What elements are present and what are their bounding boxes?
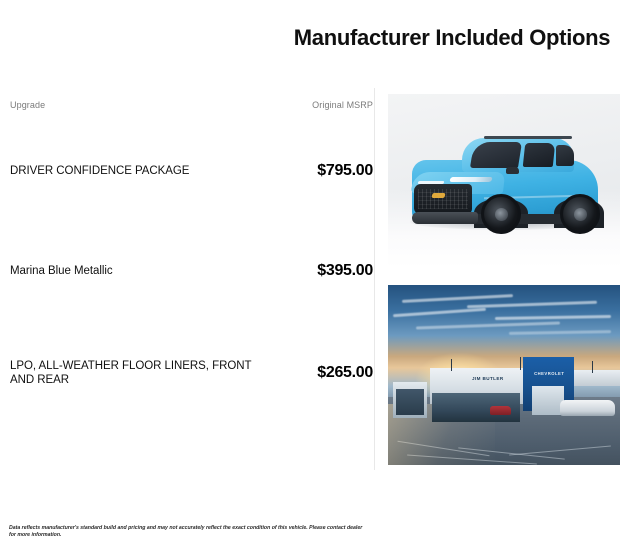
light-pole (451, 359, 452, 372)
options-table: Upgrade Original MSRP DRIVER CONFIDENCE … (0, 88, 376, 480)
chevrolet-bowtie-icon (431, 193, 445, 198)
rear-door-glass (556, 145, 574, 166)
light-pole (520, 357, 521, 370)
daytime-running-light (418, 181, 445, 184)
media-column: JIM BUTLER CHEVROLET (388, 0, 620, 480)
vehicle-photo[interactable] (388, 94, 620, 268)
table-row: DRIVER CONFIDENCE PACKAGE $795.00 (0, 148, 376, 194)
side-mirror (506, 167, 519, 174)
dealership-name-sign: JIM BUTLER (458, 374, 518, 383)
grille-mesh (418, 189, 468, 209)
cloud-streak (416, 322, 560, 330)
option-price: $795.00 (317, 162, 373, 180)
option-price: $395.00 (317, 262, 373, 280)
disclaimer-text: Data reflects manufacturer's standard bu… (9, 525, 369, 539)
cloud-streak (467, 301, 597, 309)
column-header-original-msrp: Original MSRP (312, 100, 373, 110)
dealership-photo[interactable]: JIM BUTLER CHEVROLET (388, 285, 620, 465)
roof-rail (484, 136, 572, 139)
table-row: LPO, ALL-WEATHER FLOOR LINERS, FRONT AND… (0, 350, 376, 396)
cloud-streak (402, 294, 513, 303)
right-wing-facade (574, 370, 620, 386)
column-header-upgrade: Upgrade (10, 100, 45, 110)
front-wheel (481, 194, 521, 234)
option-price: $265.00 (317, 364, 373, 382)
windshield-glass (470, 142, 522, 168)
cloud-streak (393, 308, 486, 317)
option-label: Marina Blue Metallic (10, 264, 260, 278)
cloud-streak (495, 315, 611, 320)
rear-wheel (560, 194, 600, 234)
cloud-streak (509, 330, 611, 335)
headlight (449, 177, 493, 182)
option-label: DRIVER CONFIDENCE PACKAGE (10, 164, 260, 178)
lot-vehicle-white-suv (560, 400, 616, 416)
column-divider (374, 88, 375, 470)
table-row: Marina Blue Metallic $395.00 (0, 248, 376, 294)
light-pole (592, 361, 593, 374)
option-label: LPO, ALL-WEATHER FLOOR LINERS, FRONT AND… (10, 359, 260, 387)
service-bay-door (396, 389, 424, 414)
table-header-row: Upgrade Original MSRP (0, 100, 376, 118)
brand-name-sign: CHEVROLET (527, 369, 571, 378)
lot-vehicle-red (490, 406, 511, 415)
front-bumper (412, 212, 478, 224)
front-grille (414, 184, 472, 214)
front-door-glass (523, 143, 556, 167)
